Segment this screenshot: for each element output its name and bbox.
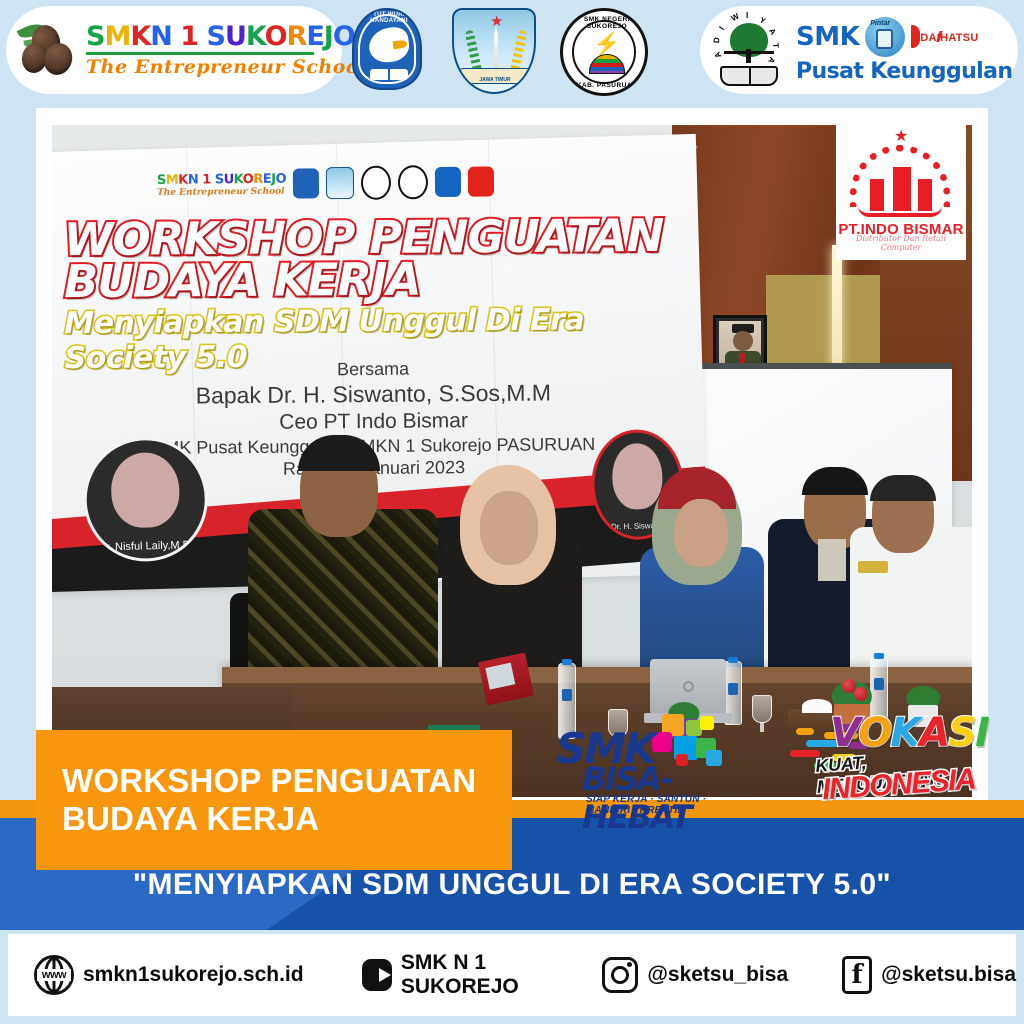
olive-branch-icon [18, 19, 80, 81]
facebook-icon: f [842, 956, 872, 994]
instagram-icon [602, 957, 638, 993]
smk-hebat-tagline: SIAP KERJA · SANTUN · MANDIRI · KREATIF [586, 794, 746, 816]
www-label: www [37, 969, 71, 981]
drinking-glass-2 [752, 695, 772, 723]
school-name-text: SMKN 1 SUKOREJO [86, 23, 367, 50]
school-tagline: The Entrepreneur School [86, 56, 367, 78]
burst-dash-7 [796, 728, 814, 735]
pt-indo-bismar-logo: ★ PT.INDO BISMAR Distributor Dan Retail … [836, 125, 966, 260]
adiwiyata-tree-icon: ADIWIYATA [710, 11, 788, 89]
banner-logo-strip: SMKN 1 SUKOREJO The Entrepreneur School [157, 164, 495, 202]
daihatsu-mark-icon [911, 25, 920, 48]
footer-website[interactable]: www smkn1sukorejo.sch.id [34, 955, 304, 995]
youtube-text: SMK N 1 SUKOREJO [401, 951, 545, 999]
daihatsu-logo: DAIHATSU [911, 28, 978, 46]
smk-label: SMK [796, 24, 859, 50]
east-java-emblem-icon: ★ JAWA TIMUR [452, 8, 538, 96]
pusat-keunggulan-label: Pusat Keunggulan [796, 61, 1012, 83]
website-text: smkn1sukorejo.sch.id [83, 963, 304, 987]
square-4 [700, 716, 714, 730]
smk-bisa-hebat-logo: SMK BISA-HEBAT SIAP KERJA · SANTUN · MAN… [556, 718, 746, 810]
banner-title-line1: WORKSHOP PENGUATAN BUDAYA KERJA [64, 215, 685, 304]
pintar-label: Pintar [870, 20, 890, 27]
smk-pintar-icon: Pintar [865, 17, 905, 57]
facebook-text: @sketsu.bisa [881, 963, 1016, 987]
footer-youtube[interactable]: SMK N 1 SUKOREJO [362, 951, 545, 999]
footer-instagram[interactable]: @sketsu_bisa [602, 957, 788, 993]
page-subtitle: "MENYIAPKAN SDM UNGGUL DI ERA SOCIETY 5.… [0, 868, 1024, 902]
square-2 [652, 732, 672, 752]
indo-bismar-tagline: Distributor Dan Retail Computer [836, 234, 966, 252]
youtube-icon [362, 959, 392, 991]
seal-top-text: SMK NEGERI SUKOREJO [563, 16, 648, 30]
excellence-logo-pill: ADIWIYATA SMK Pintar DAIHATSU Pusat Keun… [700, 6, 1018, 94]
footer-contact-bar: www smkn1sukorejo.sch.id SMK N 1 SUKOREJ… [8, 934, 1016, 1016]
banner-title-block: WORKSHOP PENGUATAN BUDAYA KERJA Menyiapk… [64, 215, 685, 376]
smkn-sukorejo-seal-icon: SMK NEGERI SUKOREJO ⚡ KAB. PASURUAN [560, 8, 650, 98]
tut-wuri-handayani-icon: TUT WURI HANDAYANI [352, 8, 424, 92]
east-java-label: JAWA TIMUR [454, 77, 536, 83]
poster-root: SMKN 1 SUKOREJO The Entrepreneur School … [0, 0, 1024, 1024]
event-photograph: SMKN 1 SUKOREJO The Entrepreneur School … [52, 125, 972, 797]
tut-wuri-label: TUT WURI HANDAYANI [354, 12, 422, 24]
header-logo-bar: SMKN 1 SUKOREJO The Entrepreneur School … [0, 0, 1024, 100]
title-callout-box: WORKSHOP PENGUATAN BUDAYA KERJA [36, 730, 512, 870]
vokasi-logo: VOKASI KUAT, MENGUATKAN INDONESIA [786, 706, 988, 806]
banner-school-name: SMKN 1 SUKOREJO [157, 171, 286, 187]
footer-facebook[interactable]: f @sketsu.bisa [842, 956, 1016, 994]
school-wordmark: SMKN 1 SUKOREJO The Entrepreneur School [86, 23, 367, 78]
instagram-text: @sketsu_bisa [647, 963, 788, 987]
page-title: WORKSHOP PENGUATAN BUDAYA KERJA [62, 762, 486, 839]
globe-icon: www [34, 955, 74, 995]
seal-bottom-text: KAB. PASURUAN [563, 82, 648, 89]
crown-icon: ★ [850, 131, 950, 217]
banner-school-tagline: The Entrepreneur School [157, 186, 286, 197]
school-logo-pill: SMKN 1 SUKOREJO The Entrepreneur School [6, 6, 342, 94]
